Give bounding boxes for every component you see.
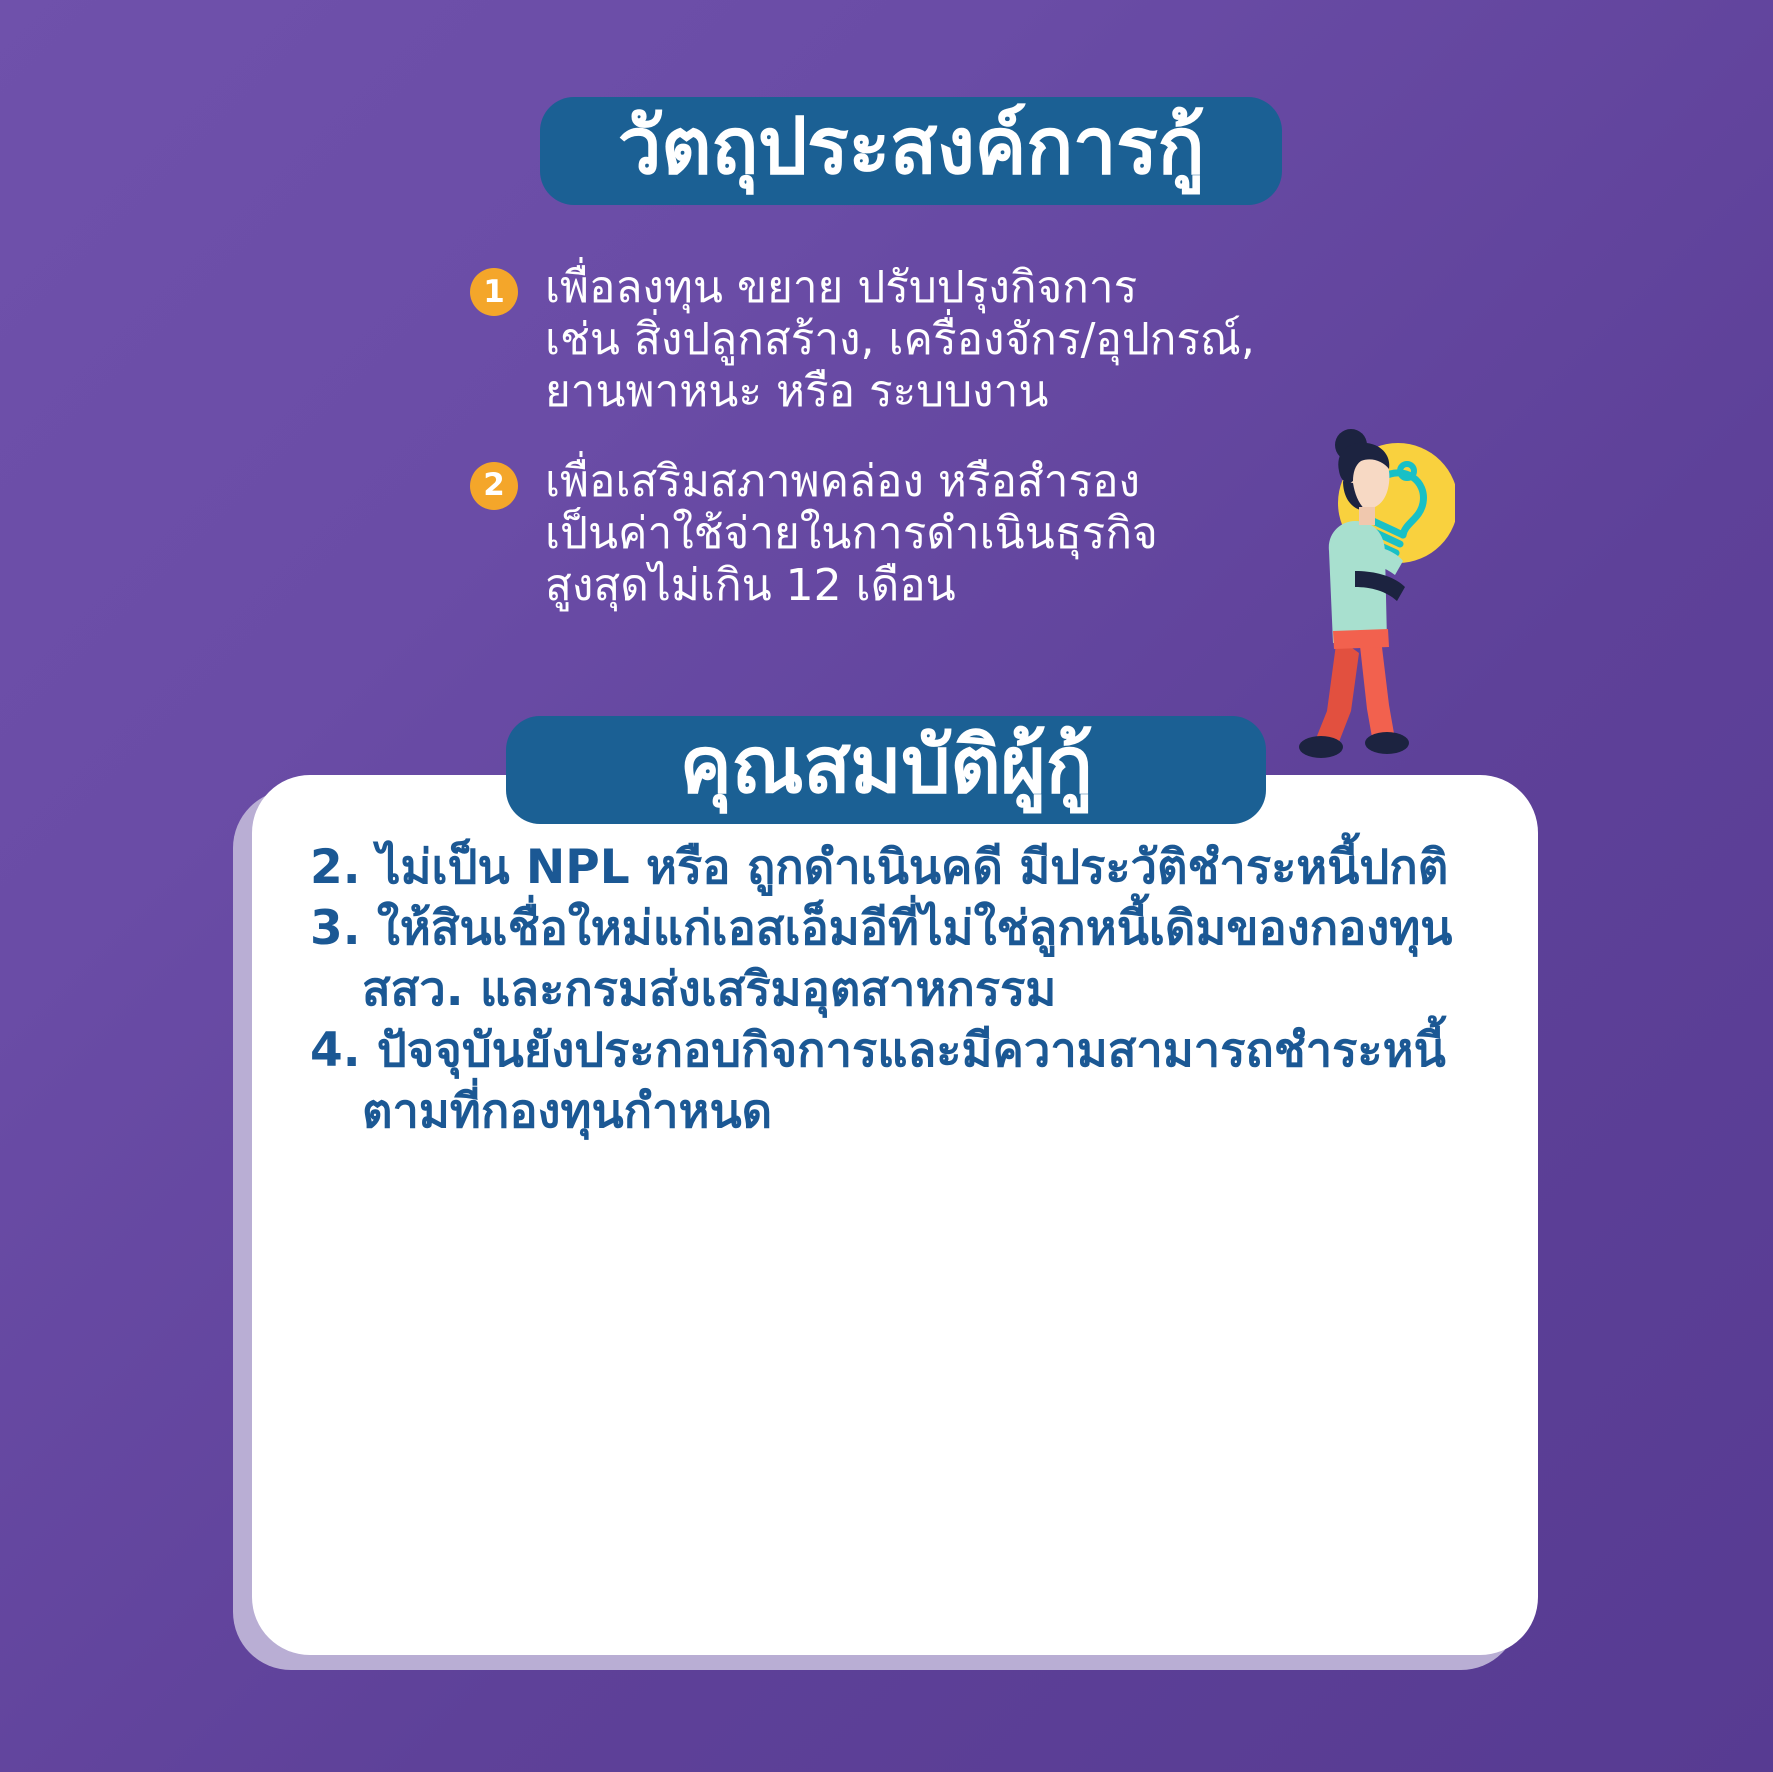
list-item-line: ยานพาหนะ หรือ ระบบงาน <box>545 366 1230 418</box>
list-item-line: เช่น สิ่งปลูกสร้าง, เครื่องจักร/อุปกรณ์, <box>545 314 1230 366</box>
loan-purpose-list: 1 เพื่อลงทุน ขยาย ปรับปรุงกิจการ เช่น สิ… <box>470 262 1230 649</box>
leg-front <box>1359 637 1395 743</box>
list-item-line: เพื่อเสริมสภาพคล่อง หรือสำรอง <box>545 456 1230 508</box>
shoe-back <box>1299 736 1343 758</box>
qualification-line: 4. ปัจจุบันยังประกอบกิจการและมีความสามาร… <box>310 1020 1480 1081</box>
list-item-text: เพื่อเสริมสภาพคล่อง หรือสำรอง เป็นค่าใช้… <box>545 456 1230 612</box>
list-item: 1 เพื่อลงทุน ขยาย ปรับปรุงกิจการ เช่น สิ… <box>470 262 1230 418</box>
list-item: 2 เพื่อเสริมสภาพคล่อง หรือสำรอง เป็นค่าใ… <box>470 456 1230 612</box>
infographic-page: วัตถุประสงค์การกู้ 1 เพื่อลงทุน ขยาย ปรั… <box>0 0 1773 1772</box>
neck <box>1359 507 1375 525</box>
qualification-card: 2. ไม่เป็น NPL หรือ ถูกดำเนินคดี มีประวั… <box>252 775 1538 1655</box>
qualification-line: สสว. และกรมส่งเสริมอุตสาหกรรม <box>310 959 1480 1020</box>
waistband <box>1333 629 1389 649</box>
list-item-line: เป็นค่าใช้จ่ายในการดำเนินธุรกิจ <box>545 508 1230 560</box>
shoe-front <box>1365 732 1409 754</box>
list-item-text: เพื่อลงทุน ขยาย ปรับปรุงกิจการ เช่น สิ่ง… <box>545 262 1230 418</box>
list-item-line: เพื่อลงทุน ขยาย ปรับปรุงกิจการ <box>545 262 1230 314</box>
qualification-line: 3. ให้สินเชื่อใหม่แก่เอสเอ็มอีที่ไม่ใช่ล… <box>310 898 1480 959</box>
banner-borrower-qualification-title: คุณสมบัติผู้กู้ <box>680 727 1093 805</box>
qualification-line: ตามที่กองทุนกำหนด <box>310 1081 1480 1142</box>
number-badge-2: 2 <box>470 462 518 510</box>
banner-loan-purpose: วัตถุประสงค์การกู้ <box>540 97 1282 205</box>
banner-borrower-qualification: คุณสมบัติผู้กู้ <box>506 716 1266 824</box>
list-item-line: สูงสุดไม่เกิน 12 เดือน <box>545 560 1230 612</box>
qualification-list: 2. ไม่เป็น NPL หรือ ถูกดำเนินคดี มีประวั… <box>310 837 1480 1142</box>
qualification-line: 2. ไม่เป็น NPL หรือ ถูกดำเนินคดี มีประวั… <box>310 837 1480 898</box>
number-badge-1: 1 <box>470 268 518 316</box>
leg-back <box>1315 637 1359 747</box>
banner-loan-purpose-title: วัตถุประสงค์การกู้ <box>618 108 1205 186</box>
person-holding-lightbulb-illustration <box>1255 425 1455 790</box>
